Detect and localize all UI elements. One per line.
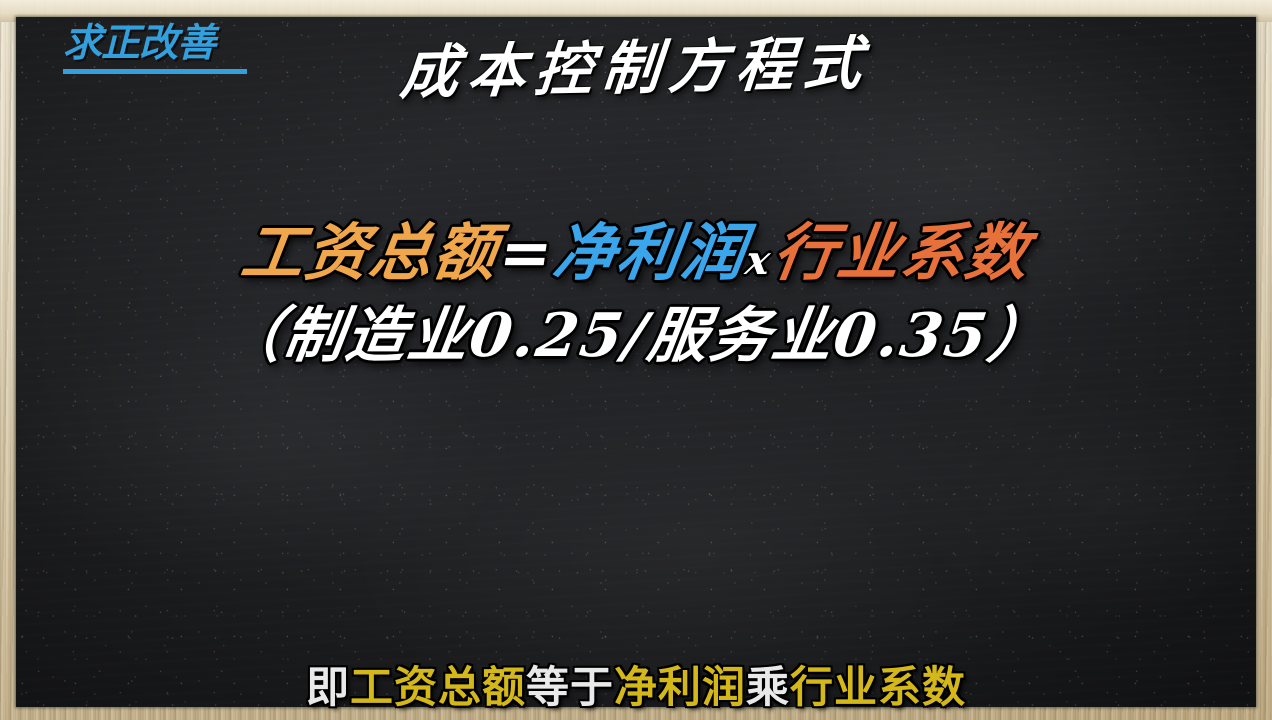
formula-term-net-profit: 净利润 [549, 218, 751, 287]
formula-line-1: 工资总额=净利润x行业系数 [237, 218, 1035, 287]
caption-part-total-wages: 工资总额 [350, 663, 526, 713]
formula-line-1-wrap: 工资总额=净利润x行业系数 [0, 218, 1272, 287]
page-title: 成本控制方程式 [0, 38, 1272, 99]
formula-block: 工资总额=净利润x行业系数 （制造业0.25/服务业0.35） [0, 218, 1272, 371]
formula-coefficient-note: （制造业0.25/服务业0.35） [217, 303, 1055, 370]
formula-equals-sign: = [493, 218, 559, 287]
caption-part-industry-coefficient: 行业系数 [790, 663, 966, 713]
caption-part-net-profit: 净利润 [614, 663, 746, 713]
formula-term-total-wages: 工资总额 [237, 218, 503, 287]
caption-part-equals: 等于 [526, 663, 614, 713]
caption-part-times: 乘 [746, 663, 790, 713]
blackboard-slide: 求正改善 成本控制方程式 工资总额=净利润x行业系数 （制造业0.25/服务业0… [0, 0, 1272, 720]
page-title-text: 成本控制方程式 [398, 33, 873, 104]
subtitle-caption: 即工资总额等于净利润乘行业系数 [0, 665, 1272, 712]
formula-term-industry-coefficient: 行业系数 [769, 218, 1035, 287]
caption-part-prefix: 即 [306, 663, 350, 713]
formula-line-2-wrap: （制造业0.25/服务业0.35） [0, 287, 1272, 370]
